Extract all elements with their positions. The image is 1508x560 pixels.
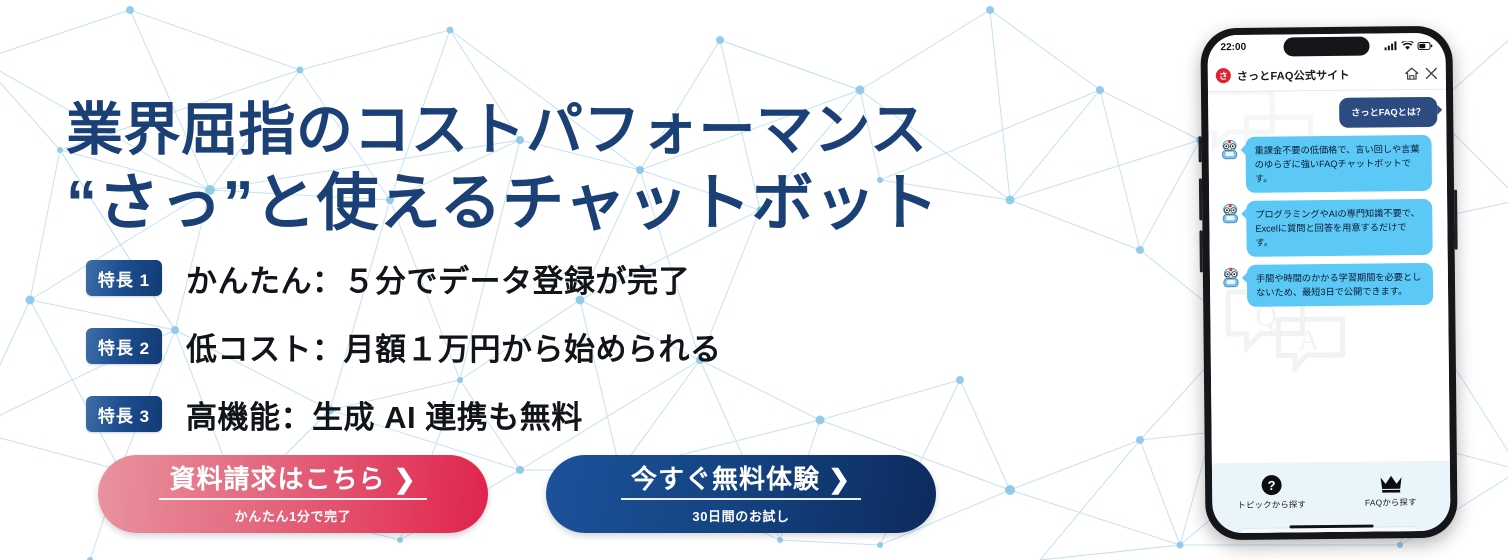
- phone-screen: 22:00: [1207, 33, 1450, 533]
- chat-bubble-bot-3: 手間や時間のかかる学習期間を必要としないため、最短3日で公開できます。: [1247, 263, 1433, 307]
- chat-message-user: さっとFAQとは？: [1217, 97, 1437, 129]
- phone-power-button: [1454, 190, 1458, 250]
- battery-icon: [1417, 41, 1432, 49]
- document-request-sublabel: かんたん1分で完了: [235, 506, 352, 525]
- chat-message-list[interactable]: Q A さっとFAQとは？: [1208, 90, 1450, 463]
- bot-avatar-icon: [1218, 203, 1242, 227]
- nav-label-faq-search: FAQから探す: [1365, 496, 1417, 509]
- feature-item-3: 特長 3 高機能：生成 AI 連携も無料: [86, 392, 722, 436]
- free-trial-sublabel: 30日間のお試し: [692, 506, 789, 525]
- status-time: 22:00: [1220, 42, 1246, 53]
- chat-bubble-bot-2: プログラミングやAIの専門知識不要で、Excelに質問と回答を用意するだけです。: [1246, 199, 1433, 257]
- phone-volume-up-button: [1199, 178, 1202, 220]
- hero-banner: 業界屈指のコストパフォーマンス “さっ”と使えるチャットボット 特長 1 かんた…: [0, 0, 1508, 560]
- chat-bubble-bot-1: 重課金不要の低価格で、言い回しや言葉のゆらぎに強いFAQチャットボットです。: [1245, 135, 1432, 193]
- home-icon[interactable]: [1405, 67, 1419, 80]
- feature-item-1: 特長 1 かんたん：５分でデータ登録が完了: [86, 256, 722, 300]
- feature-badge-2: 特長 2: [86, 328, 162, 364]
- nav-label-topic-search: トピックから探す: [1237, 498, 1306, 511]
- phone-mockup: 22:00: [1200, 26, 1457, 541]
- feature-text-1: かんたん：５分でデータ登録が完了: [186, 256, 690, 301]
- chat-message-bot-2: プログラミングやAIの専門知識不要で、Excelに質問と回答を用意するだけです。: [1218, 199, 1439, 257]
- question-mark-icon: ?: [1261, 475, 1282, 496]
- send-icon[interactable]: [1425, 531, 1442, 533]
- feature-text-3: 高機能：生成 AI 連携も無料: [186, 392, 583, 437]
- feature-list: 特長 1 かんたん：５分でデータ登録が完了 特長 2 低コスト：月額１万円から始…: [86, 256, 722, 460]
- document-request-button[interactable]: 資料請求はこちら ❯ かんたん1分で完了: [98, 455, 488, 533]
- chat-bottom-nav: ? トピックから探す FAQから探す: [1212, 461, 1451, 519]
- wifi-icon: [1401, 41, 1413, 50]
- feature-text-2: 低コスト：月額１万円から始められる: [186, 324, 722, 369]
- feature-badge-1: 特長 1: [86, 260, 162, 296]
- chat-message-bot-1: 重課金不要の低価格で、言い回しや言葉のゆらぎに強いFAQチャットボットです。: [1217, 135, 1438, 193]
- cta-button-group: 資料請求はこちら ❯ かんたん1分で完了 今すぐ無料体験 ❯ 30日間のお試し: [98, 455, 936, 533]
- nav-item-faq-search[interactable]: FAQから探す: [1343, 474, 1439, 509]
- chat-header: さ さっとFAQ公式サイト: [1208, 58, 1446, 92]
- cellular-signal-icon: [1384, 41, 1397, 50]
- bot-avatar-icon: [1217, 139, 1241, 163]
- feature-badge-3: 特長 3: [86, 396, 162, 432]
- feature-item-2: 特長 2 低コスト：月額１万円から始められる: [86, 324, 722, 368]
- document-request-label: 資料請求はこちら ❯: [159, 464, 426, 500]
- phone-silent-switch: [1198, 136, 1201, 162]
- headline-line-2: “さっ”と使えるチャットボット: [66, 167, 1126, 240]
- free-trial-button[interactable]: 今すぐ無料体験 ❯ 30日間のお試し: [546, 455, 936, 533]
- free-trial-label: 今すぐ無料体験 ❯: [621, 464, 861, 500]
- close-icon[interactable]: [1425, 67, 1438, 80]
- phone-volume-down-button: [1199, 230, 1202, 272]
- svg-text:?: ?: [1268, 478, 1276, 493]
- crown-icon: [1379, 474, 1403, 493]
- chat-title: さっとFAQ公式サイト: [1237, 66, 1399, 84]
- headline-line-1: 業界屈指のコストパフォーマンス: [66, 94, 1126, 167]
- page-title: 業界屈指のコストパフォーマンス “さっ”と使えるチャットボット: [66, 94, 1126, 240]
- nav-item-topic-search[interactable]: ? トピックから探す: [1224, 474, 1320, 511]
- svg-text:A: A: [1298, 325, 1319, 356]
- sattofaq-logo-icon: さ: [1216, 68, 1231, 83]
- hero-left-content: 業界屈指のコストパフォーマンス “さっ”と使えるチャットボット 特長 1 かんた…: [0, 0, 1180, 560]
- bot-avatar-icon: [1219, 267, 1243, 291]
- chat-bubble-user: さっとFAQとは？: [1339, 97, 1437, 128]
- chat-message-bot-3: 手間や時間のかかる学習期間を必要としないため、最短3日で公開できます。: [1219, 263, 1439, 307]
- phone-notch: [1283, 37, 1369, 57]
